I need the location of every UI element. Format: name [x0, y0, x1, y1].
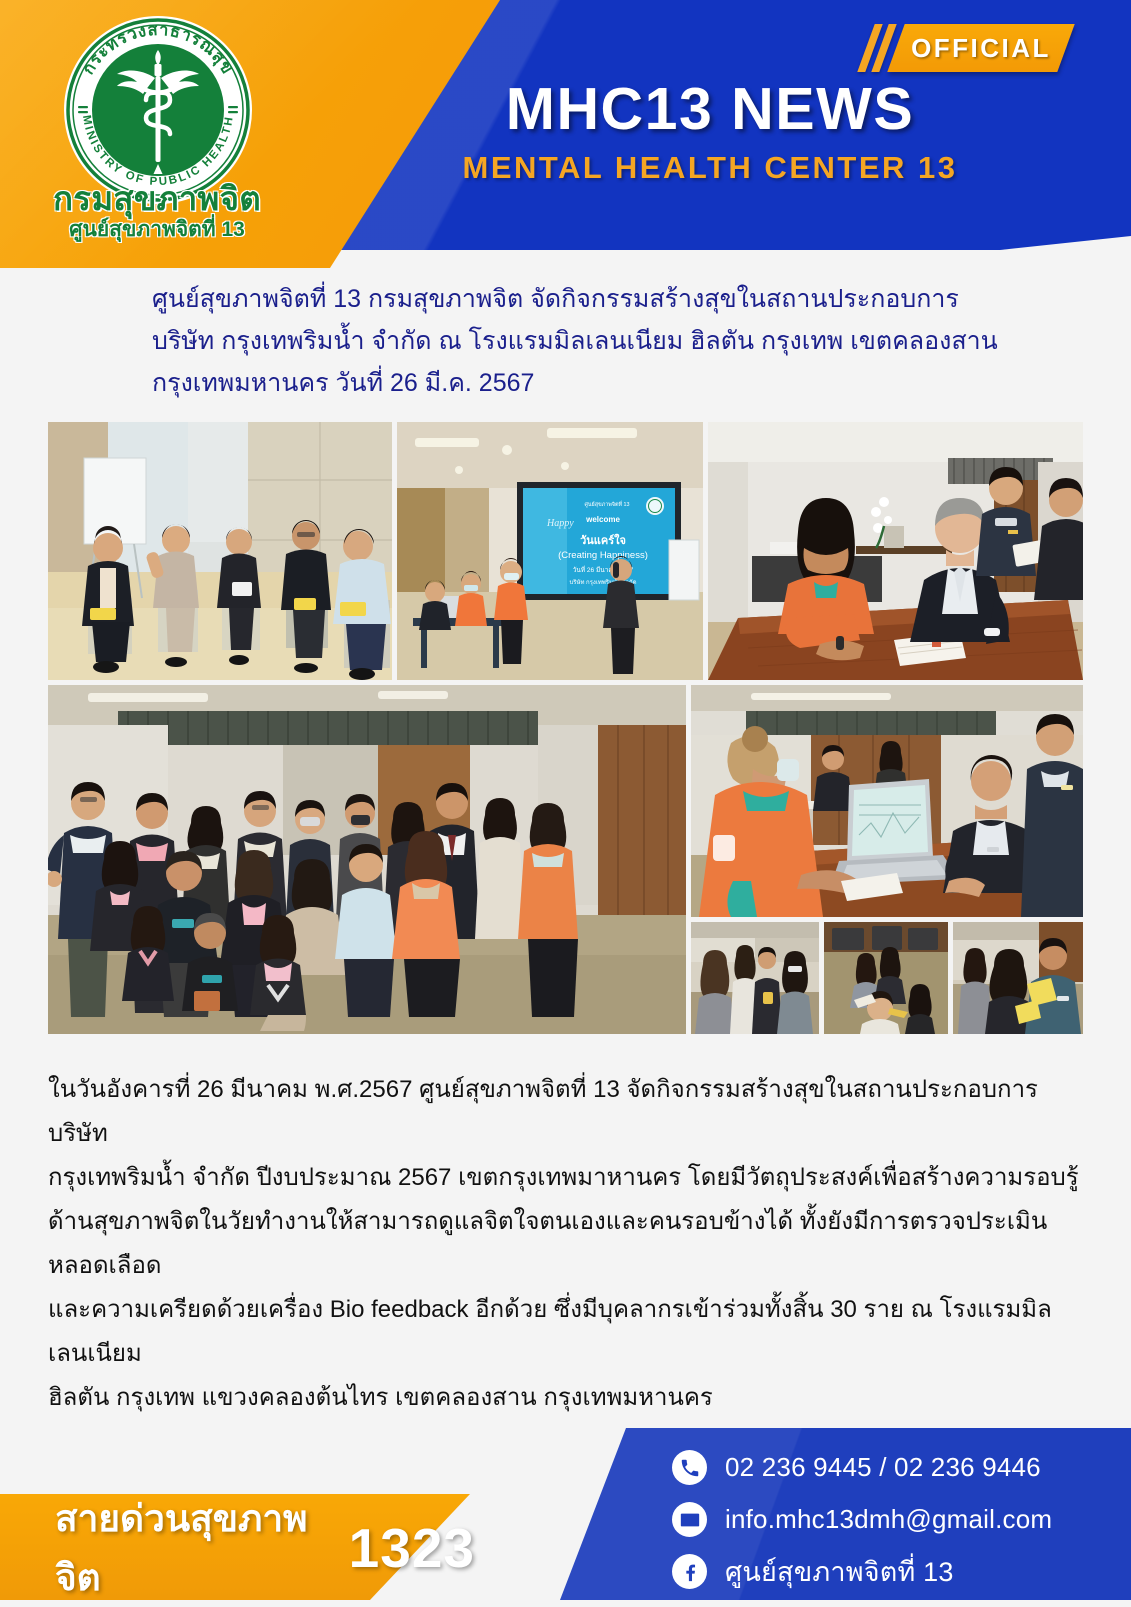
- hotline-label: สายด่วนสุขภาพจิต: [55, 1489, 335, 1607]
- contact-list: 02 236 9445 / 02 236 9446 info.mhc13dmh@…: [672, 1444, 1092, 1600]
- hotline-banner: สายด่วนสุขภาพจิต 1323: [55, 1508, 475, 1588]
- photo-gallery: Happy ศูนย์สุขภาพจิตที่ 13 welcome วันแค…: [48, 422, 1083, 1034]
- hotline-number: 1323: [349, 1516, 475, 1580]
- headline-line-2: บริษัท กรุงเทพริมน้ำ จำกัด ณ โรงแรมมิลเล…: [152, 320, 1062, 362]
- svg-text:ศูนย์สุขภาพจิตที่ 13: ศูนย์สุขภาพจิตที่ 13: [584, 500, 629, 508]
- contact-phone-row[interactable]: 02 236 9445 / 02 236 9446: [672, 1444, 1092, 1491]
- page-subtitle: MENTAL HEALTH CENTER 13: [430, 152, 990, 183]
- photo-small-participants-b: [824, 922, 948, 1034]
- photo-small-participants-a: [691, 922, 819, 1034]
- department-center-thai: ศูนย์สุขภาพจิตที่ 13: [22, 213, 292, 246]
- photo-interview-table: [708, 422, 1083, 680]
- contact-phone-text: 02 236 9445 / 02 236 9446: [725, 1452, 1041, 1483]
- photo-small-participants-c: [953, 922, 1083, 1034]
- official-badge-label: OFFICIAL: [896, 24, 1066, 72]
- phone-icon: [672, 1450, 707, 1485]
- contact-facebook-row[interactable]: ศูนย์สุขภาพจิตที่ 13: [672, 1548, 1092, 1595]
- svg-text:วันแคร์ใจ: วันแคร์ใจ: [580, 533, 626, 547]
- email-icon: [672, 1502, 707, 1537]
- contact-email-row[interactable]: info.mhc13dmh@gmail.com: [672, 1496, 1092, 1543]
- photo-presentation-stage: Happy ศูนย์สุขภาพจิตที่ 13 welcome วันแค…: [397, 422, 703, 680]
- svg-text:Happy: Happy: [546, 518, 574, 529]
- headline: ศูนย์สุขภาพจิตที่ 13 กรมสุขภาพจิต จัดกิจ…: [152, 278, 1062, 404]
- page-header: กระทรวงสาธารณสุข MINISTRY OF PUBLIC HEAL…: [0, 0, 1131, 268]
- facebook-icon: [672, 1554, 707, 1589]
- photo-biofeedback-screening: [691, 685, 1083, 917]
- contact-facebook-text: ศูนย์สุขภาพจิตที่ 13: [725, 1550, 954, 1593]
- contact-email-text: info.mhc13dmh@gmail.com: [725, 1504, 1052, 1535]
- official-badge: OFFICIAL: [866, 24, 1066, 72]
- body-line-3: ด้านสุขภาพจิตในวัยทำงานให้สามารถดูแลจิตใ…: [48, 1200, 1088, 1288]
- page-title: MHC13 NEWS: [430, 80, 990, 139]
- body-line-1: ในวันอังคารที่ 26 มีนาคม พ.ศ.2567 ศูนย์ส…: [48, 1068, 1088, 1156]
- svg-text:welcome: welcome: [585, 515, 620, 524]
- headline-line-3: กรุงเทพมหานคร วันที่ 26 มี.ค. 2567: [152, 362, 1062, 404]
- body-line-4: และความเครียดด้วยเครื่อง Bio feedback อี…: [48, 1288, 1088, 1376]
- photo-circle-discussion: [48, 422, 392, 680]
- svg-text:(Creating Happiness): (Creating Happiness): [558, 550, 648, 561]
- body-line-5: ฮิลตัน กรุงเทพ แขวงคลองต้นไทร เขตคลองสาน…: [48, 1376, 1088, 1420]
- article-body: ในวันอังคารที่ 26 มีนาคม พ.ศ.2567 ศูนย์ส…: [48, 1068, 1088, 1420]
- body-line-2: กรุงเทพริมน้ำ จำกัด ปีงบประมาณ 2567 เขตก…: [48, 1156, 1088, 1200]
- headline-line-1: ศูนย์สุขภาพจิตที่ 13 กรมสุขภาพจิต จัดกิจ…: [152, 278, 1062, 320]
- photo-group-photo: [48, 685, 686, 1034]
